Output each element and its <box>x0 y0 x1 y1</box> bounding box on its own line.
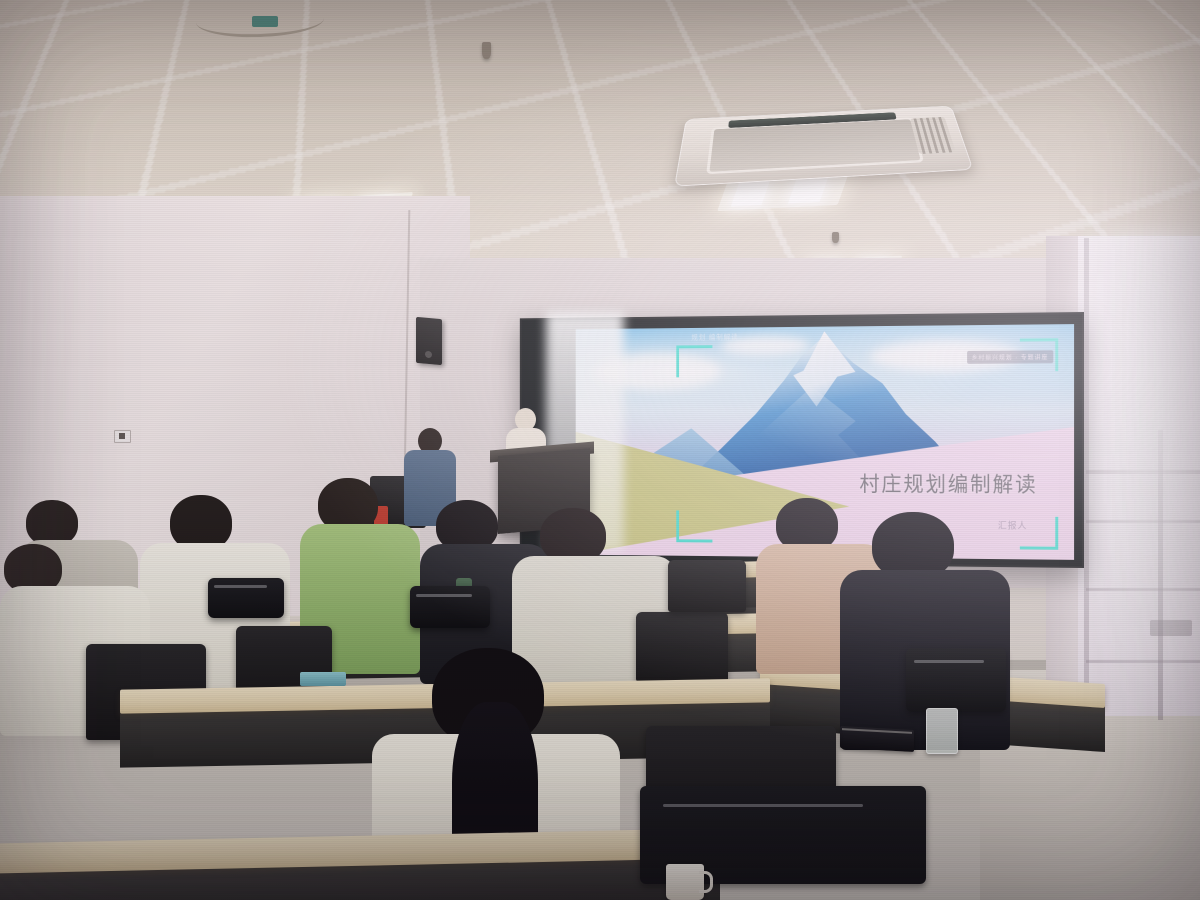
glass-jar-cup[interactable] <box>926 708 958 754</box>
backpack-on-desk[interactable] <box>410 586 490 628</box>
ceiling-sensor-icon <box>482 42 491 59</box>
chair[interactable] <box>636 612 728 682</box>
corner-bracket-icon <box>676 345 712 377</box>
blue-booklet[interactable] <box>300 672 346 686</box>
wall-speaker-icon <box>416 317 442 365</box>
ceramic-mug[interactable] <box>666 864 704 900</box>
ceiling-sensor-icon <box>832 232 839 243</box>
corner-bracket-icon <box>676 510 712 542</box>
junction-box-icon <box>252 16 278 27</box>
bag-on-desk[interactable] <box>208 578 284 618</box>
corner-bracket-icon <box>1020 338 1058 371</box>
backpack-on-desk[interactable] <box>906 648 1006 712</box>
notebook-on-desk[interactable] <box>840 726 914 752</box>
classroom-scene: 规划 编制解读 乡村振兴规划 · 专题讲座 村庄规划编制解读 汇报人 <box>0 0 1200 900</box>
slide-title: 村庄规划编制解读 <box>859 468 1037 498</box>
corner-bracket-icon <box>1020 517 1058 550</box>
wall-switch-plate[interactable] <box>114 430 131 443</box>
slide-top-left-label: 规划 编制解读 <box>691 332 738 342</box>
chair[interactable] <box>668 560 746 612</box>
